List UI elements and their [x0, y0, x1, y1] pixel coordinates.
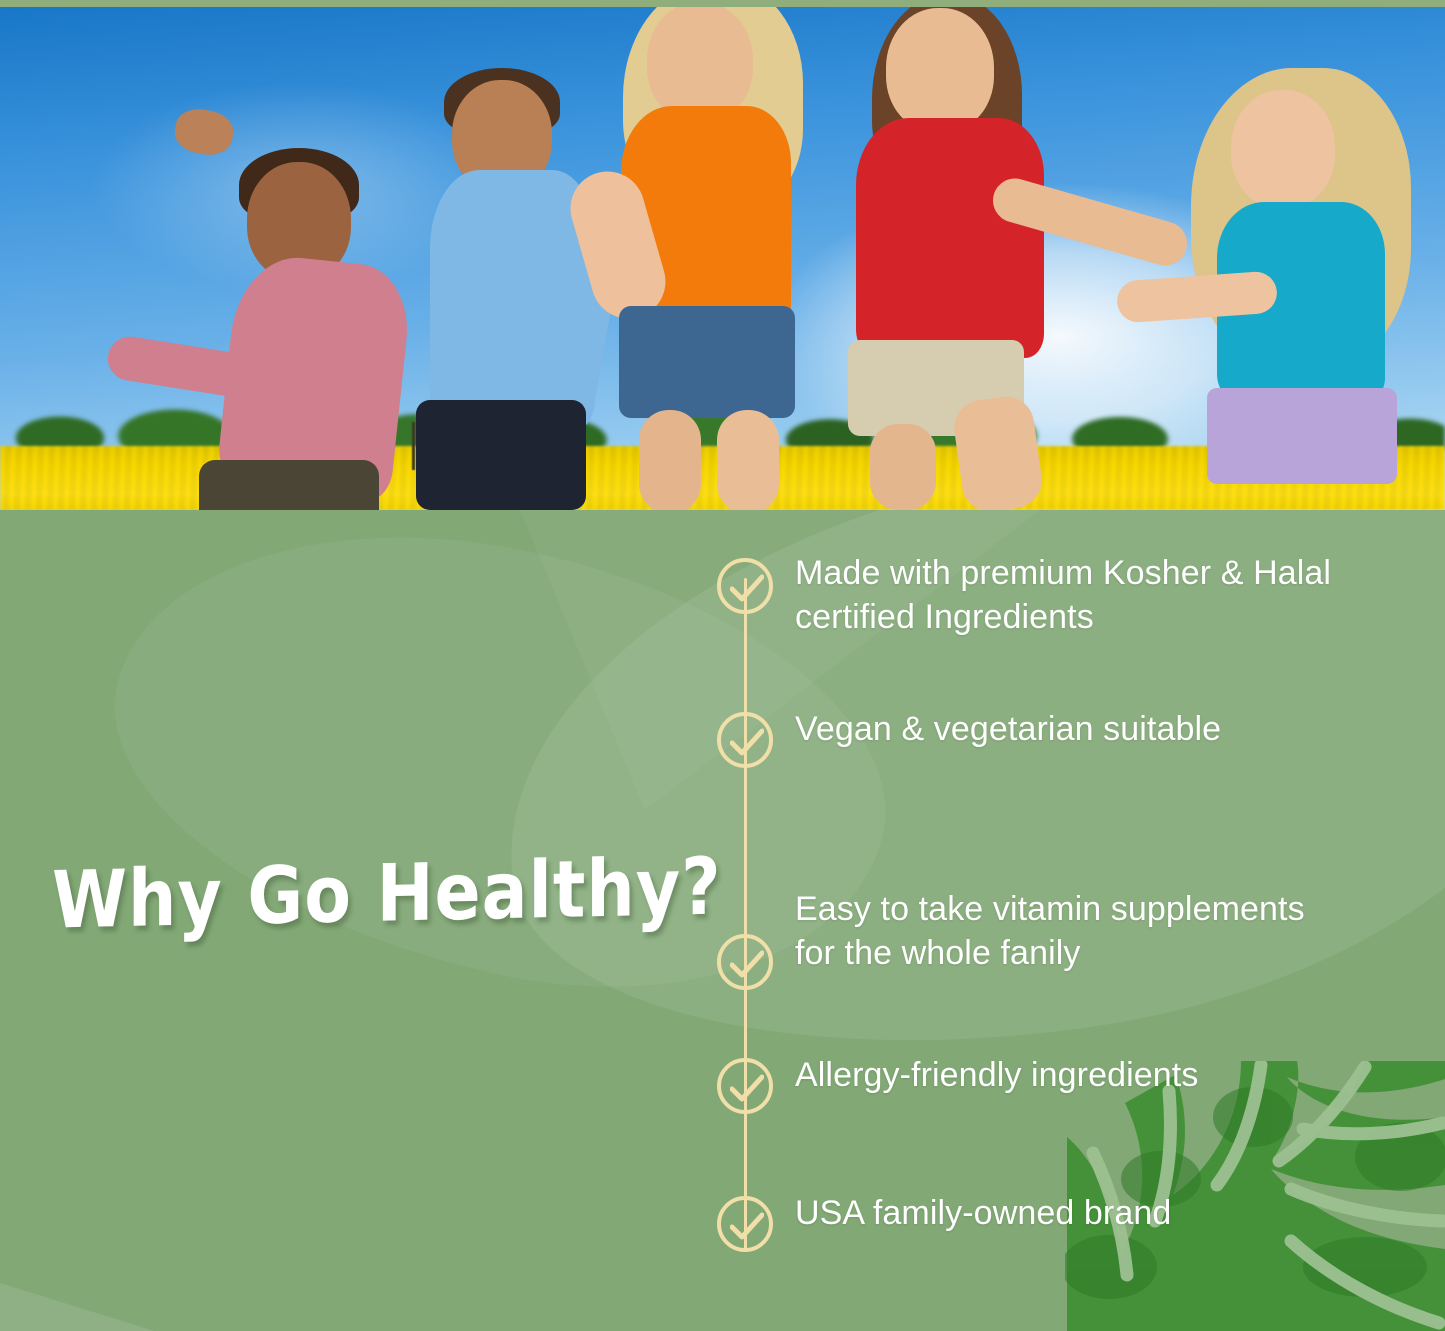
head: [647, 7, 753, 122]
benefits-checklist: Made with premium Kosher & Halal certifi…: [705, 510, 1445, 1331]
list-item-label: Easy to take vitamin supplements for the…: [795, 888, 1305, 975]
leg: [717, 410, 779, 510]
leg: [870, 424, 936, 510]
watermark-corner-shape: [0, 1121, 540, 1331]
child-turquoise-shirt: [1145, 80, 1445, 510]
list-item: Made with premium Kosher & Halal certifi…: [705, 552, 1445, 639]
list-item: Vegan & vegetarian suitable: [705, 708, 1445, 768]
torso: [856, 118, 1044, 358]
list-item: Easy to take vitamin supplements for the…: [705, 888, 1445, 990]
shorts: [199, 460, 379, 510]
list-item-label: USA family-owned brand: [795, 1192, 1171, 1236]
page-title: Why Go Healthy?: [52, 849, 692, 941]
shorts: [1207, 388, 1397, 484]
head: [1231, 90, 1335, 208]
child-orange-shirt: [565, 10, 865, 510]
head: [886, 8, 994, 132]
list-item-label: Made with premium Kosher & Halal certifi…: [795, 552, 1331, 639]
list-item: USA family-owned brand: [705, 1192, 1445, 1252]
shorts: [416, 400, 586, 510]
list-item: Allergy-friendly ingredients: [705, 1054, 1445, 1114]
list-item-label: Vegan & vegetarian suitable: [795, 708, 1221, 752]
check-circle-icon: [717, 1058, 773, 1114]
hero-photo: [0, 7, 1445, 510]
leg: [639, 410, 701, 510]
leg: [951, 393, 1046, 510]
hand: [172, 105, 237, 158]
check-circle-icon: [717, 934, 773, 990]
child-red-shirt: [830, 7, 1160, 510]
check-circle-icon: [717, 712, 773, 768]
shorts: [619, 306, 795, 418]
top-accent-strip: [0, 0, 1445, 7]
check-circle-icon: [717, 1196, 773, 1252]
check-circle-icon: [717, 558, 773, 614]
list-item-label: Allergy-friendly ingredients: [795, 1054, 1198, 1098]
why-go-healthy-poster: Why Go Healthy? Made with premium Kosher…: [0, 0, 1445, 1331]
